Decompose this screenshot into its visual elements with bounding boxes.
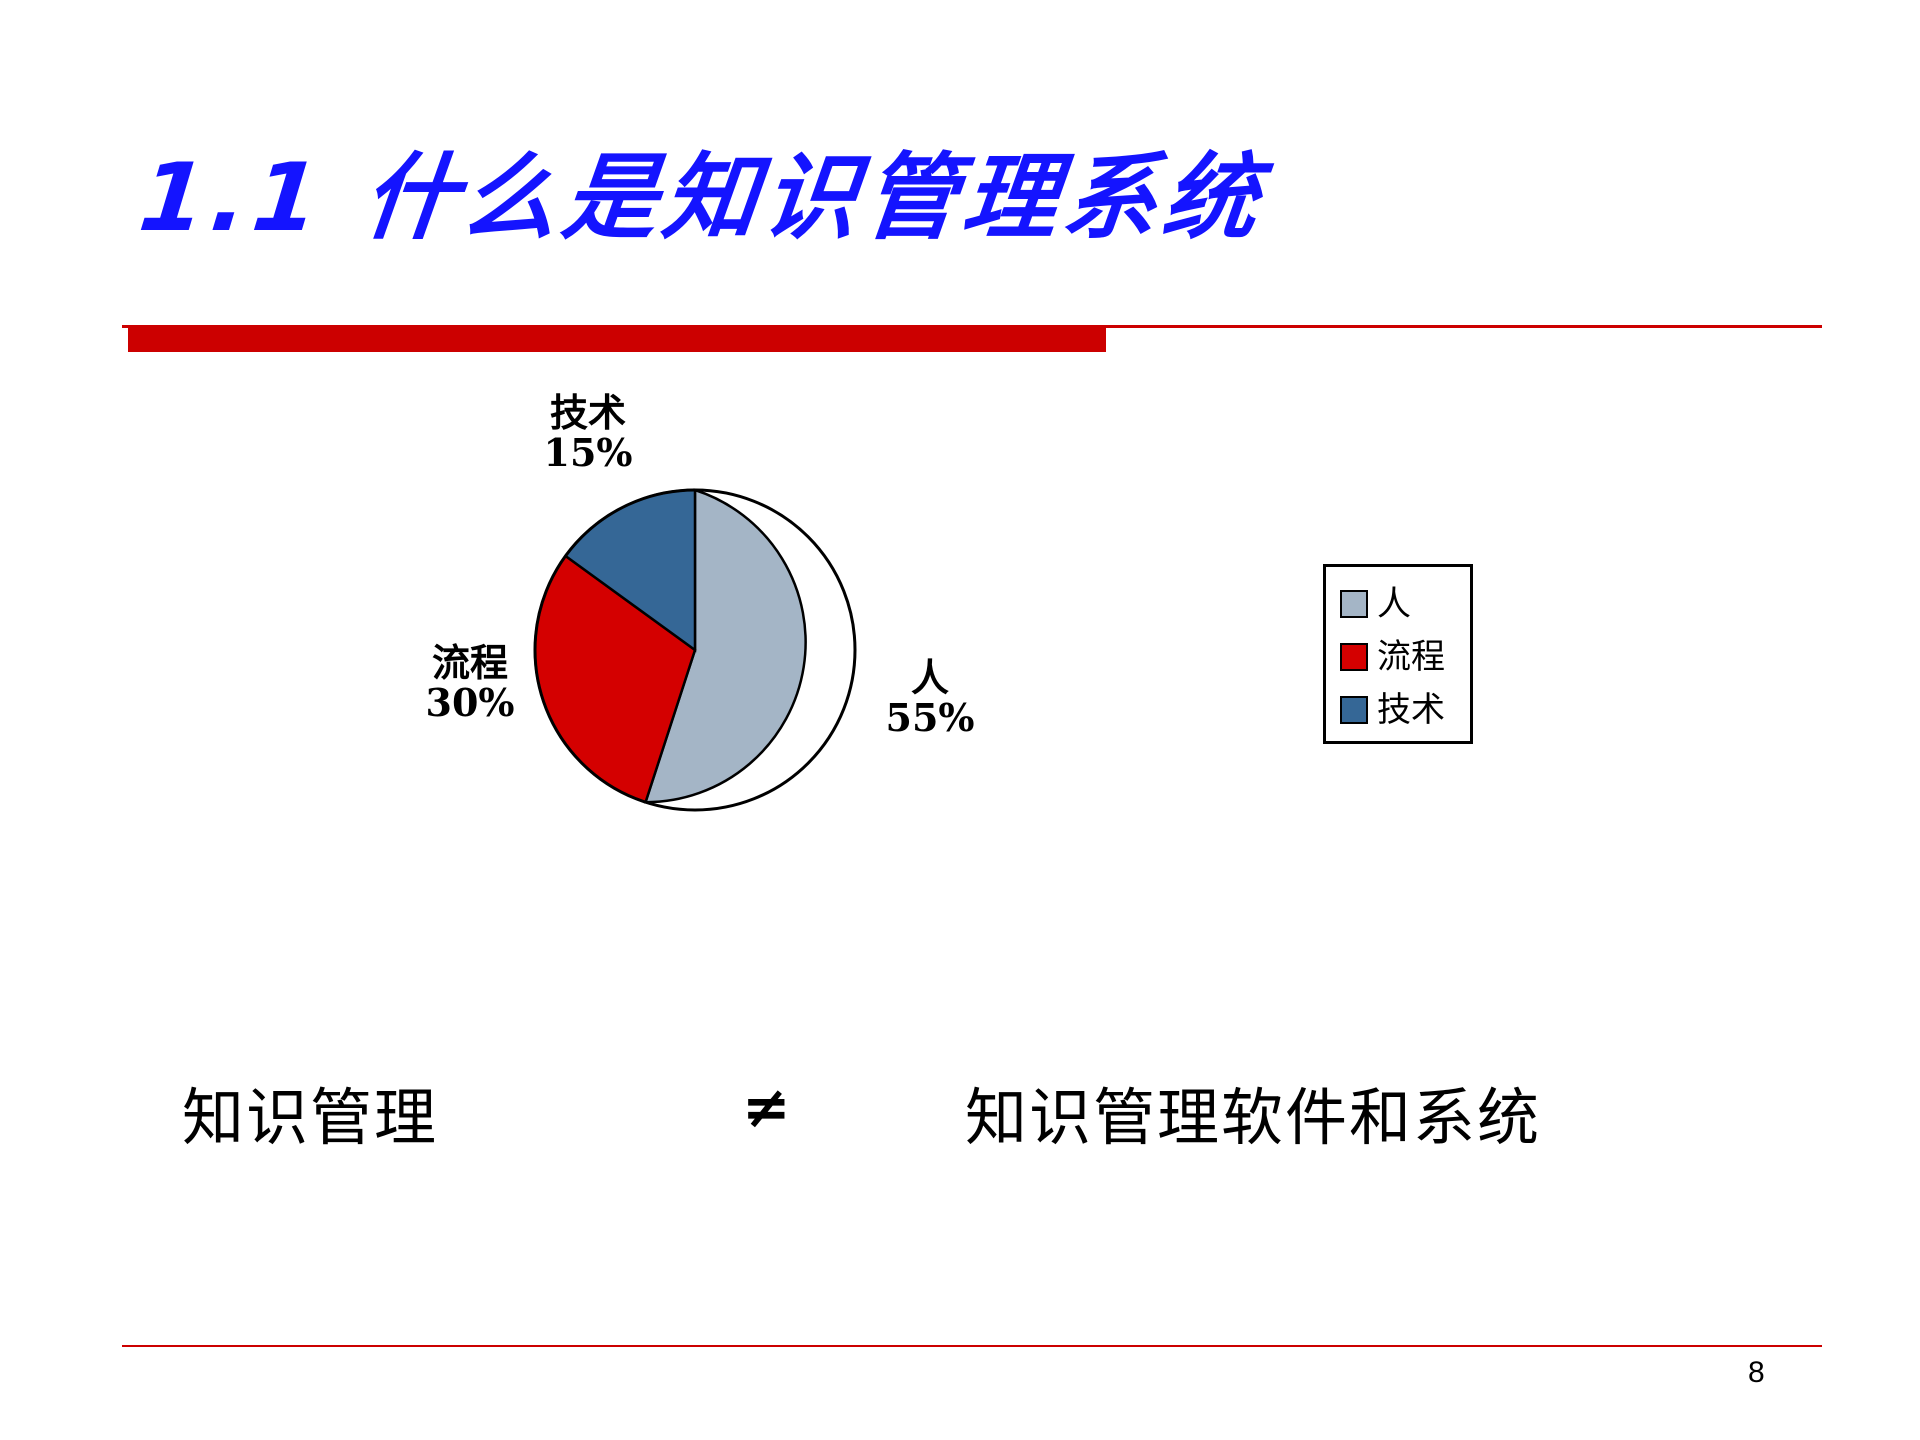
legend-label-people: 人 [1377, 587, 1411, 621]
chart-legend: 人 流程 技术 [1323, 564, 1473, 744]
legend-swatch-process [1340, 643, 1368, 671]
title-rule-thick [128, 326, 1106, 352]
page-title: 1.1 什么是知识管理系统 [135, 150, 1269, 249]
legend-swatch-people [1340, 590, 1368, 618]
not-equal-icon: ≠ [742, 1073, 793, 1141]
equation-right-term: 知识管理软件和系统 [965, 1067, 1541, 1157]
pie-label-technology-name: 技术 [528, 393, 648, 433]
page-number: 8 [1748, 1356, 1765, 1390]
pie-label-technology-value: 15% [528, 433, 648, 473]
legend-label-process: 流程 [1377, 640, 1445, 674]
pie-label-people-value: 55% [870, 698, 990, 738]
footer-rule [122, 1345, 1822, 1347]
pie-chart: 技术 15% 流程 30% 人 55% [380, 380, 1140, 860]
legend-item-technology: 技术 [1340, 683, 1470, 736]
legend-label-technology: 技术 [1377, 693, 1445, 727]
pie-label-people-name: 人 [870, 658, 990, 698]
equation-left-term: 知识管理 [182, 1067, 438, 1157]
pie-graphic [533, 488, 857, 812]
legend-item-process: 流程 [1340, 630, 1470, 683]
pie-label-process-value: 30% [410, 683, 530, 723]
slide-canvas: 1.1 什么是知识管理系统 技术 15% 流程 30% 人 55% [0, 0, 1920, 1440]
legend-item-people: 人 [1340, 577, 1470, 630]
pie-label-process-name: 流程 [410, 643, 530, 683]
pie-label-technology: 技术 15% [528, 393, 648, 474]
pie-label-process: 流程 30% [410, 643, 530, 724]
pie-label-people: 人 55% [870, 658, 990, 739]
legend-swatch-technology [1340, 696, 1368, 724]
equation-row: 知识管理 ≠ 知识管理软件和系统 [0, 1045, 1920, 1165]
